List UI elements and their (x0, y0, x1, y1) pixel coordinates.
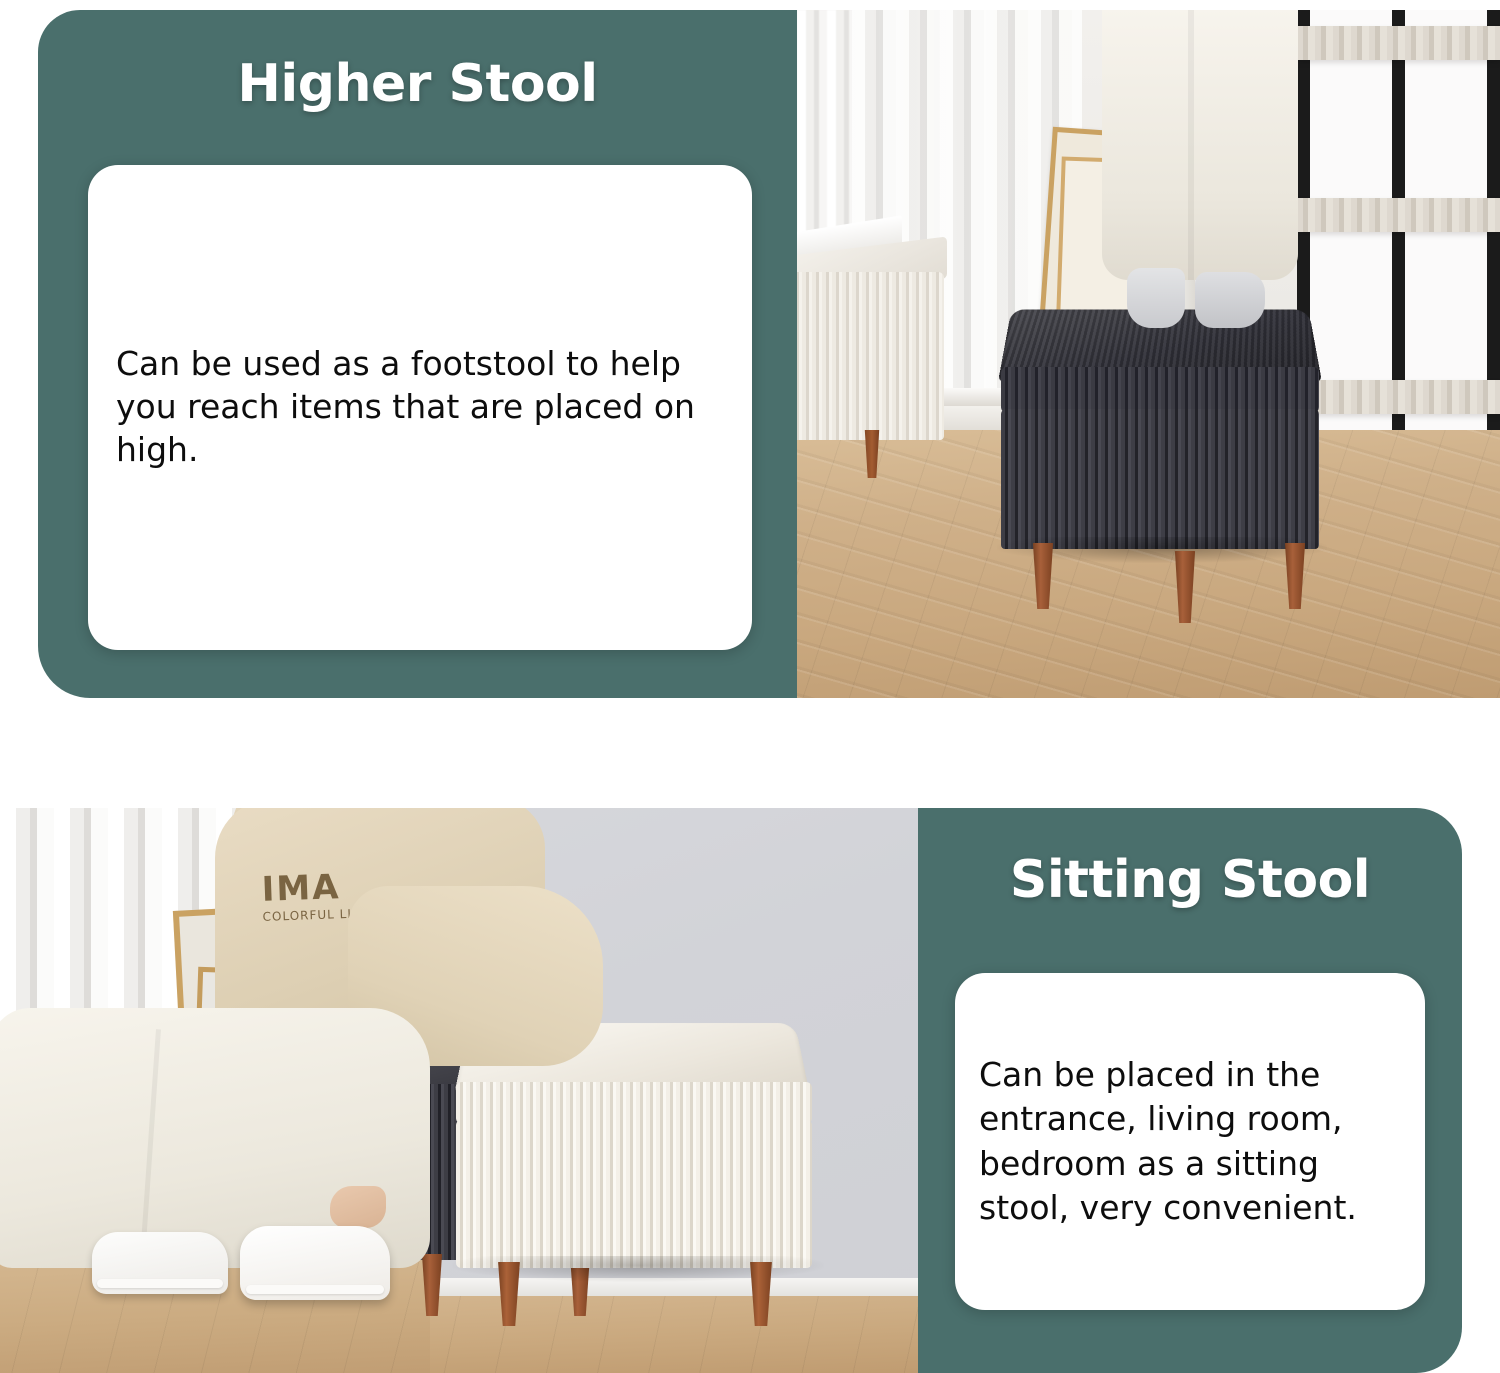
shelf-board-1 (1297, 26, 1500, 60)
sitting-stool-text-panel: Sitting Stool Can be placed in the entra… (918, 808, 1462, 1373)
hand (330, 1186, 386, 1228)
higher-stool-info-card: Can be used as a footstool to help you r… (88, 165, 752, 650)
sitting-stool-info-card: Can be placed in the entrance, living ro… (955, 973, 1425, 1310)
sitting-stool-description: Can be placed in the entrance, living ro… (955, 1053, 1425, 1230)
cream-ottoman-body (797, 272, 944, 440)
sock-left (1127, 268, 1185, 328)
sitting-stool-photo: IMA COLORFUL LIFE (0, 808, 940, 1373)
higher-stool-photo (797, 10, 1500, 698)
sock-right (1195, 272, 1265, 328)
cream-ottoman-leg-left (496, 1262, 522, 1326)
dark-ottoman (997, 305, 1327, 605)
dark-ottoman-body (1001, 409, 1319, 549)
higher-stool-description: Can be used as a footstool to help you r… (88, 343, 752, 472)
sitting-stool-title: Sitting Stool (918, 850, 1462, 910)
feature-panel-higher-stool: Higher Stool Can be used as a footstool … (0, 10, 1500, 698)
dark-ottoman-leg-left (1031, 543, 1055, 609)
higher-stool-text-panel: Higher Stool Can be used as a footstool … (38, 10, 797, 698)
dark-ottoman-leg-right (1283, 543, 1307, 609)
cream-ottoman-lid-side (456, 1082, 812, 1124)
standing-person-pants (1102, 10, 1298, 280)
shelf-board-2 (1297, 198, 1500, 232)
product-feature-page: Higher Stool Can be used as a footstool … (0, 0, 1500, 1373)
dark-ottoman-lid-side (1001, 367, 1319, 413)
cream-ottoman-body (456, 1120, 812, 1268)
sneaker-left (92, 1232, 228, 1294)
cream-ottoman-leg-right (748, 1262, 774, 1326)
shelf-board-3 (1297, 380, 1500, 414)
higher-stool-title: Higher Stool (38, 54, 797, 114)
feature-panel-sitting-stool: IMA COLORFUL LIFE Sitting Stool Can be p… (0, 808, 1500, 1373)
sneaker-right (240, 1226, 390, 1300)
